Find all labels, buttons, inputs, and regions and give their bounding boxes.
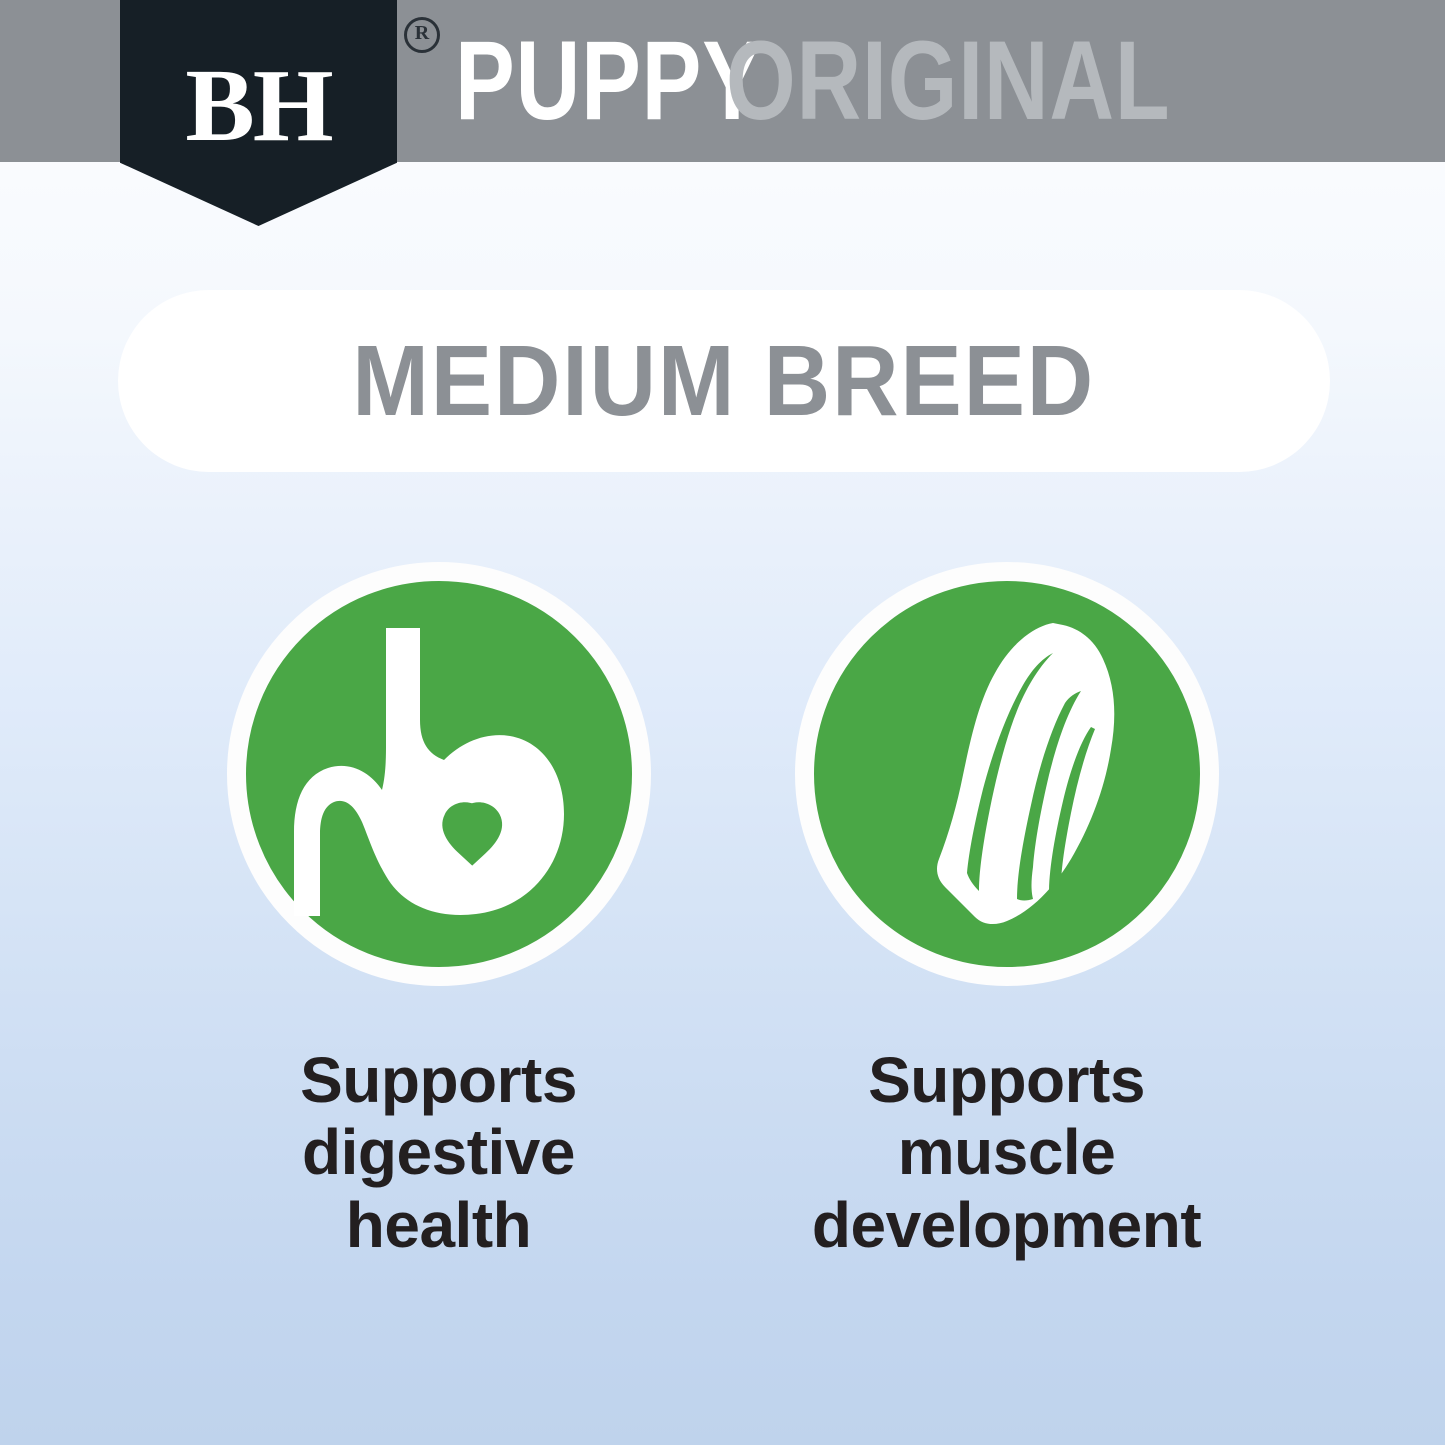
- benefit-label-line: health: [204, 1189, 674, 1261]
- registered-trademark-icon: R: [404, 17, 440, 53]
- benefit-label-line: muscle: [772, 1116, 1242, 1188]
- benefits-row: Supports digestive health Supports muscl…: [0, 562, 1445, 1261]
- benefit-label-line: development: [772, 1189, 1242, 1261]
- benefit-item-muscle: Supports muscle development: [785, 562, 1229, 1261]
- benefit-icon-badge-digestive: [227, 562, 651, 986]
- product-line-title: PUPPY: [455, 25, 763, 137]
- brand-monogram: BH: [120, 54, 397, 158]
- breed-size-badge: MEDIUM BREED: [118, 290, 1330, 472]
- benefit-label-line: Supports: [204, 1044, 674, 1116]
- breed-size-label: MEDIUM BREED: [353, 324, 1096, 439]
- stomach-heart-icon: [294, 624, 584, 924]
- muscle-fiber-icon: [867, 619, 1147, 929]
- brand-shield-logo: BH: [120, 0, 397, 226]
- banner-title-group: PUPPY ORIGINAL: [455, 0, 1281, 162]
- benefit-icon-badge-muscle: [795, 562, 1219, 986]
- product-feature-card: PUPPY ORIGINAL R BH MEDIUM BREED Support…: [0, 0, 1445, 1445]
- product-variant-title: ORIGINAL: [726, 25, 1170, 137]
- benefit-label-line: digestive: [204, 1116, 674, 1188]
- benefit-label-muscle: Supports muscle development: [772, 1044, 1242, 1261]
- benefit-label-line: Supports: [772, 1044, 1242, 1116]
- benefit-label-digestive: Supports digestive health: [204, 1044, 674, 1261]
- benefit-item-digestive: Supports digestive health: [217, 562, 661, 1261]
